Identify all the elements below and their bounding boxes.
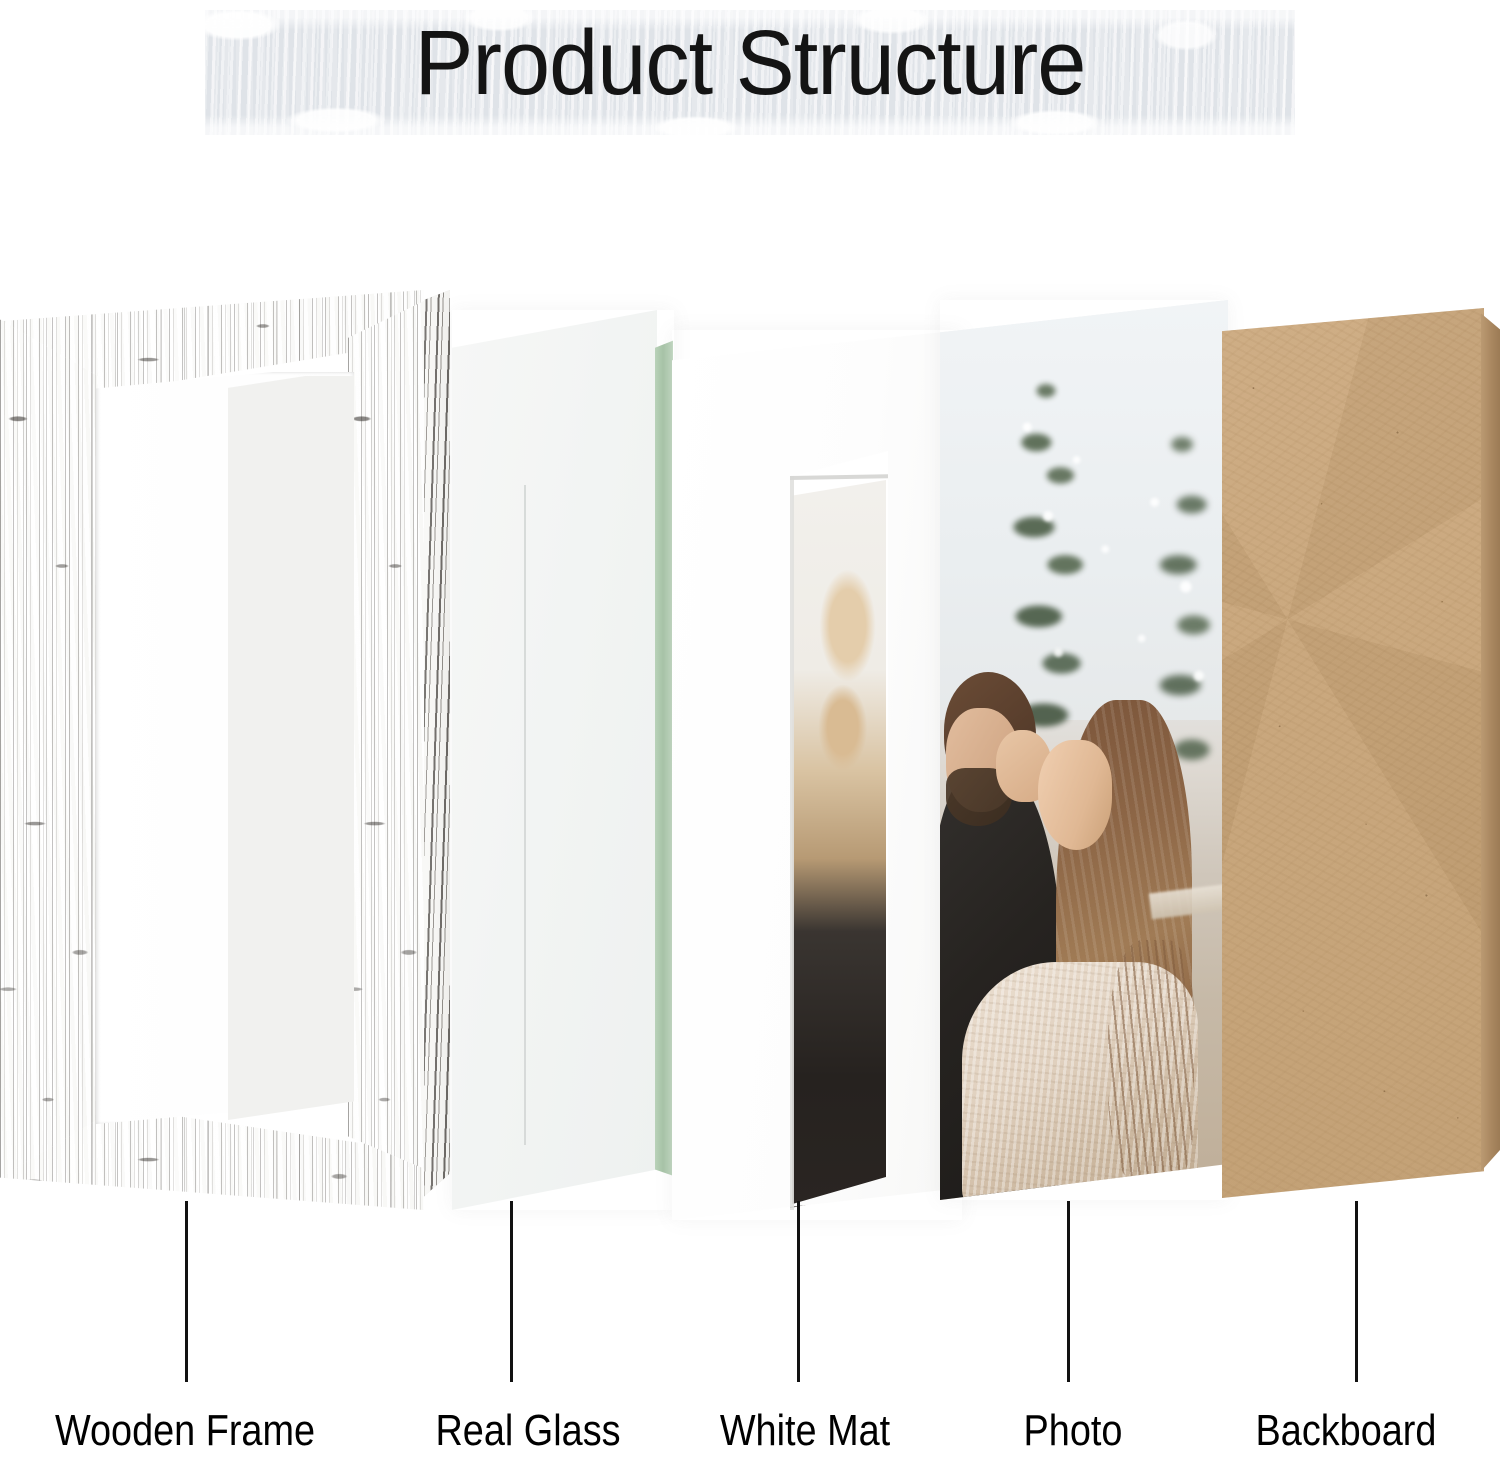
leader-line-backboard	[1355, 1201, 1358, 1382]
leader-line-real-glass	[510, 1201, 513, 1382]
photo-face	[940, 300, 1228, 1200]
frame-visible-glass	[228, 376, 354, 1120]
backboard-face	[1222, 308, 1484, 1198]
mat-window-bevel-top	[790, 474, 888, 480]
frame-rail-left	[0, 290, 100, 1210]
label-white-mat: White Mat	[676, 1406, 934, 1456]
mat-window-photo-sliver	[790, 480, 886, 1208]
glass-face	[452, 310, 657, 1210]
label-backboard: Backboard	[1214, 1406, 1479, 1456]
label-wooden-frame: Wooden Frame	[26, 1406, 344, 1456]
photo-woman-face	[1038, 740, 1112, 850]
frame-rail-right	[348, 290, 424, 1210]
layer-white-mat	[672, 330, 962, 1220]
label-photo: Photo	[966, 1406, 1181, 1456]
leader-line-photo	[1067, 1201, 1070, 1382]
label-real-glass: Real Glass	[390, 1406, 665, 1456]
leader-line-white-mat	[797, 1201, 800, 1382]
exploded-product-stack	[0, 0, 1500, 1230]
leader-line-wooden-frame	[185, 1201, 188, 1382]
layer-real-glass	[452, 310, 674, 1210]
photo-hair-strands	[1108, 940, 1194, 1190]
layer-wooden-frame	[0, 290, 450, 1210]
backboard-side-edge	[1481, 308, 1500, 1198]
glass-green-edge	[655, 310, 673, 1210]
layer-photo	[940, 300, 1228, 1200]
layer-backboard	[1222, 308, 1500, 1198]
glass-reflection	[524, 485, 526, 1145]
mat-window-bevel-left	[790, 476, 794, 1210]
